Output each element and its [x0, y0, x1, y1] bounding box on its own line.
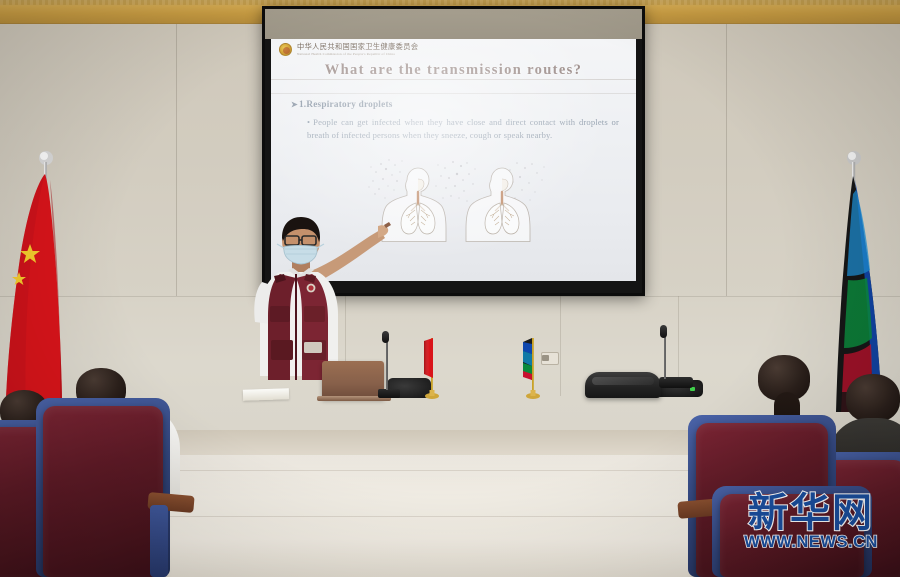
- droplet-cloud-middle: [435, 161, 475, 202]
- droplet-cloud-left: [368, 159, 402, 198]
- header-divider: [271, 79, 636, 80]
- slide-heading-1: ➤1.Respiratory droplets: [291, 99, 393, 109]
- desk-flag-south-sudan: [520, 330, 546, 402]
- org-name-en: National Health Commission of the People…: [297, 52, 418, 56]
- vest-pocket: [271, 340, 293, 360]
- slide-heading-1-text: 1.Respiratory droplets: [299, 99, 393, 109]
- dot-bullet-icon: •: [307, 117, 310, 127]
- speaker-chair-sheen: [592, 377, 654, 385]
- slide-title: What are the transmission routes?: [271, 62, 636, 79]
- wall-flag-china: [4, 148, 84, 416]
- slide-org-header: 中华人民共和国国家卫生健康委员会 National Health Commiss…: [279, 43, 418, 56]
- microphone-gooseneck: [386, 336, 388, 390]
- papers-on-table: [243, 388, 289, 401]
- speaker-chair: [585, 372, 661, 398]
- microphone-capsule-icon: [660, 325, 667, 338]
- watermark-brand-en: WWW.NEWS.CN: [728, 533, 894, 552]
- audience-seat-back: [43, 406, 163, 577]
- audience-head: [846, 374, 900, 422]
- watermark: 新华网 WWW.NEWS.CN: [728, 492, 894, 552]
- org-name-cn: 中华人民共和国国家卫生健康委员会: [297, 43, 418, 50]
- title-divider: [271, 93, 636, 94]
- arrow-bullet-icon: ➤: [291, 100, 298, 109]
- national-emblem-icon: [279, 43, 292, 56]
- vest-pocket-card: [304, 342, 322, 353]
- slide-body-1: •People can get infected when they have …: [307, 116, 619, 143]
- desk-flag-china: [420, 330, 444, 402]
- slide-body-1-text: People can get infected when they have c…: [307, 117, 619, 140]
- photo-scene: 中华人民共和国国家卫生健康委员会 National Health Commiss…: [0, 0, 900, 577]
- watermark-brand-cn: 新华网: [728, 492, 894, 534]
- vest-pocket: [270, 306, 290, 322]
- wall-panel-line: [560, 296, 561, 396]
- laptop: [322, 361, 384, 399]
- screen-top-band: [265, 9, 642, 39]
- vest-pocket: [304, 306, 325, 322]
- figure-right: [466, 168, 530, 242]
- microphone-capsule-icon: [382, 331, 389, 343]
- conference-microphone: [378, 389, 400, 398]
- audience-seat-armrest-post: [150, 505, 168, 577]
- presenter-face-mask: [284, 246, 317, 265]
